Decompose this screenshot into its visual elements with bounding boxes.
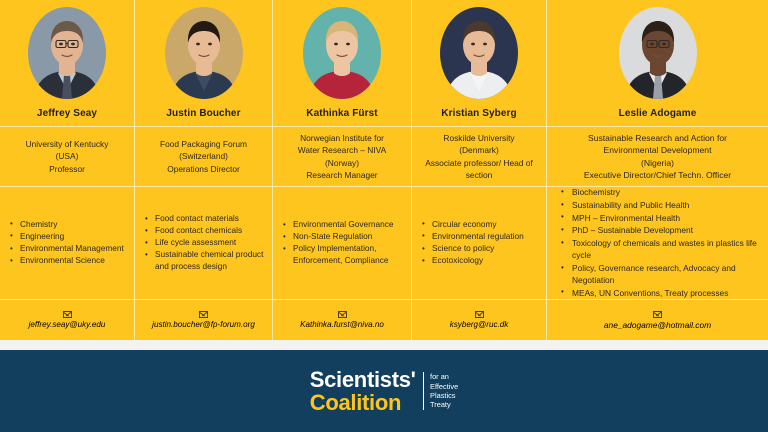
expert-expertise-cell: Food contact materialsFood contact chemi… [135,187,272,300]
expert-affiliation: Roskilde University(Denmark)Associate pr… [418,132,540,182]
expert-email-cell: jeffrey.seay@uky.edu [0,300,134,340]
affiliation-line: Professor [26,163,109,176]
expertise-item: Environmental Science [8,255,128,267]
panel-footer-gap [0,340,768,350]
expert-column: Jeffrey SeayUniversity of Kentucky(USA)P… [0,0,135,340]
expertise-list: Circular economyEnvironmental regulation… [420,219,540,267]
logo-line-1: Scientists' [310,369,416,391]
expert-column: Leslie AdogameSustainable Research and A… [547,0,768,340]
expert-column: Kristian SybergRoskilde University(Denma… [412,0,547,340]
logo-divider [423,372,424,410]
envelope-icon [338,311,347,318]
expert-name-cell: Kristian Syberg [412,100,546,127]
experts-table: Jeffrey SeayUniversity of Kentucky(USA)P… [0,0,768,340]
slide-root: Jeffrey SeayUniversity of Kentucky(USA)P… [0,0,768,432]
expert-expertise-cell: Environmental GovernanceNon-State Regula… [273,187,411,300]
expert-affiliation-cell: Roskilde University(Denmark)Associate pr… [412,127,546,187]
expert-photo-cell [547,0,768,100]
expert-email-link[interactable]: jeffrey.seay@uky.edu [29,320,106,329]
affiliation-line: Operations Director [160,163,247,176]
expertise-item: Non-State Regulation [281,231,405,243]
expertise-list: Environmental GovernanceNon-State Regula… [281,219,405,267]
expert-email-link[interactable]: ksyberg@ruc.dk [450,320,509,329]
expert-email-link[interactable]: justin.boucher@fp-forum.org [152,320,255,329]
expertise-item: Science to policy [420,243,540,255]
logo-tagline-line-2: Plastics [430,391,458,400]
expertise-item: Environmental Management [8,243,128,255]
affiliation-line: Executive Director/Chief Techn. Officer [584,169,731,182]
expert-expertise-cell: BiochemistrySustainability and Public He… [547,187,768,300]
expertise-item: MEAs, UN Conventions, Treaty processes [559,287,760,299]
expertise-item: Policy, Governance research, Advocacy an… [559,262,760,286]
logo-tagline-line-1: Effective [430,382,458,391]
expert-affiliation-cell: Food Packaging Forum(Switzerland)Operati… [135,127,272,187]
expertise-item: Food contact chemicals [143,225,266,237]
affiliation-line: (USA) [26,150,109,163]
affiliation-line: Roskilde University [418,132,540,145]
affiliation-line: (Nigeria) [584,157,731,170]
expert-email-cell: Kathinka.furst@niva.no [273,300,411,340]
expert-affiliation-cell: Norwegian Institute forWater Research – … [273,127,411,187]
expertise-list: ChemistryEngineeringEnvironmental Manage… [8,219,128,267]
expertise-item: Chemistry [8,219,128,231]
envelope-icon [475,311,484,318]
footer-bar: Scientists' Coalition for an Effective P… [0,350,768,432]
expertise-item: Life cycle assessment [143,237,266,249]
expert-affiliation-cell: University of Kentucky(USA)Professor [0,127,134,187]
avatar [28,7,106,99]
logo-tagline: for an Effective Plastics Treaty [430,372,458,410]
affiliation-line: (Denmark) [418,144,540,157]
avatar [440,7,518,99]
logo-line-2: Coalition [310,392,401,414]
expert-expertise-cell: ChemistryEngineeringEnvironmental Manage… [0,187,134,300]
expert-email-cell: ane_adogame@hotmail.com [547,300,768,340]
expert-column: Kathinka FürstNorwegian Institute forWat… [273,0,412,340]
expertise-item: Toxicology of chemicals and wastes in pl… [559,237,760,261]
expertise-item: Food contact materials [143,213,266,225]
expertise-item: Ecotoxicology [420,255,540,267]
affiliation-line: Water Research – NIVA [298,144,386,157]
logo-wordmark: Scientists' Coalition [310,369,423,414]
affiliation-line: Sustainable Research and Action for [584,132,731,145]
envelope-icon [653,311,662,318]
expert-email-cell: ksyberg@ruc.dk [412,300,546,340]
expert-photo-cell [273,0,411,100]
affiliation-line: University of Kentucky [26,138,109,151]
expertise-item: MPH – Environmental Health [559,212,760,224]
expertise-item: Sustainability and Public Health [559,199,760,211]
affiliation-line: Research Manager [298,169,386,182]
affiliation-line: Food Packaging Forum [160,138,247,151]
affiliation-line: Norwegian Institute for [298,132,386,145]
expert-column: Justin BoucherFood Packaging Forum(Switz… [135,0,273,340]
expert-name-cell: Leslie Adogame [547,100,768,127]
expert-name: Jeffrey Seay [37,108,97,119]
expertise-item: Biochemistry [559,187,760,199]
expertise-item: Circular economy [420,219,540,231]
expert-affiliation: Sustainable Research and Action forEnvir… [584,132,731,182]
expertise-item: Environmental Governance [281,219,405,231]
affiliation-line: Environmental Development [584,144,731,157]
expertise-item: Engineering [8,231,128,243]
affiliation-line: Associate professor/ Head of section [418,157,540,182]
expert-name: Kathinka Fürst [306,108,377,119]
expert-affiliation-cell: Sustainable Research and Action forEnvir… [547,127,768,187]
avatar [165,7,243,99]
expertise-item: Sustainable chemical product and process… [143,249,266,272]
avatar [303,7,381,99]
expert-name: Leslie Adogame [619,108,697,119]
expert-affiliation: University of Kentucky(USA)Professor [26,138,109,176]
expert-photo-cell [0,0,134,100]
expertise-item: Environmental regulation [420,231,540,243]
expert-name-cell: Justin Boucher [135,100,272,127]
expertise-item: Policy Implementation, Enforcement, Comp… [281,243,405,266]
expert-email-cell: justin.boucher@fp-forum.org [135,300,272,340]
expert-photo-cell [412,0,546,100]
envelope-icon [199,311,208,318]
expert-name-cell: Jeffrey Seay [0,100,134,127]
expertise-list: Food contact materialsFood contact chemi… [143,213,266,273]
expert-email-link[interactable]: ane_adogame@hotmail.com [604,320,711,330]
avatar [619,7,697,99]
envelope-icon [63,311,72,318]
expert-name-cell: Kathinka Fürst [273,100,411,127]
expertise-list: BiochemistrySustainability and Public He… [559,187,760,300]
expertise-item: PhD – Sustainable Development [559,224,760,236]
logo-tagline-line-0: for an [430,372,458,381]
logo-tagline-line-3: Treaty [430,400,458,409]
expert-affiliation: Norwegian Institute forWater Research – … [298,132,386,182]
expert-expertise-cell: Circular economyEnvironmental regulation… [412,187,546,300]
expert-name: Kristian Syberg [441,108,516,119]
expert-name: Justin Boucher [166,108,240,119]
affiliation-line: (Switzerland) [160,150,247,163]
expert-photo-cell [135,0,272,100]
expert-affiliation: Food Packaging Forum(Switzerland)Operati… [160,138,247,176]
expert-email-link[interactable]: Kathinka.furst@niva.no [300,320,384,329]
affiliation-line: (Norway) [298,157,386,170]
scientists-coalition-logo: Scientists' Coalition for an Effective P… [310,370,458,412]
